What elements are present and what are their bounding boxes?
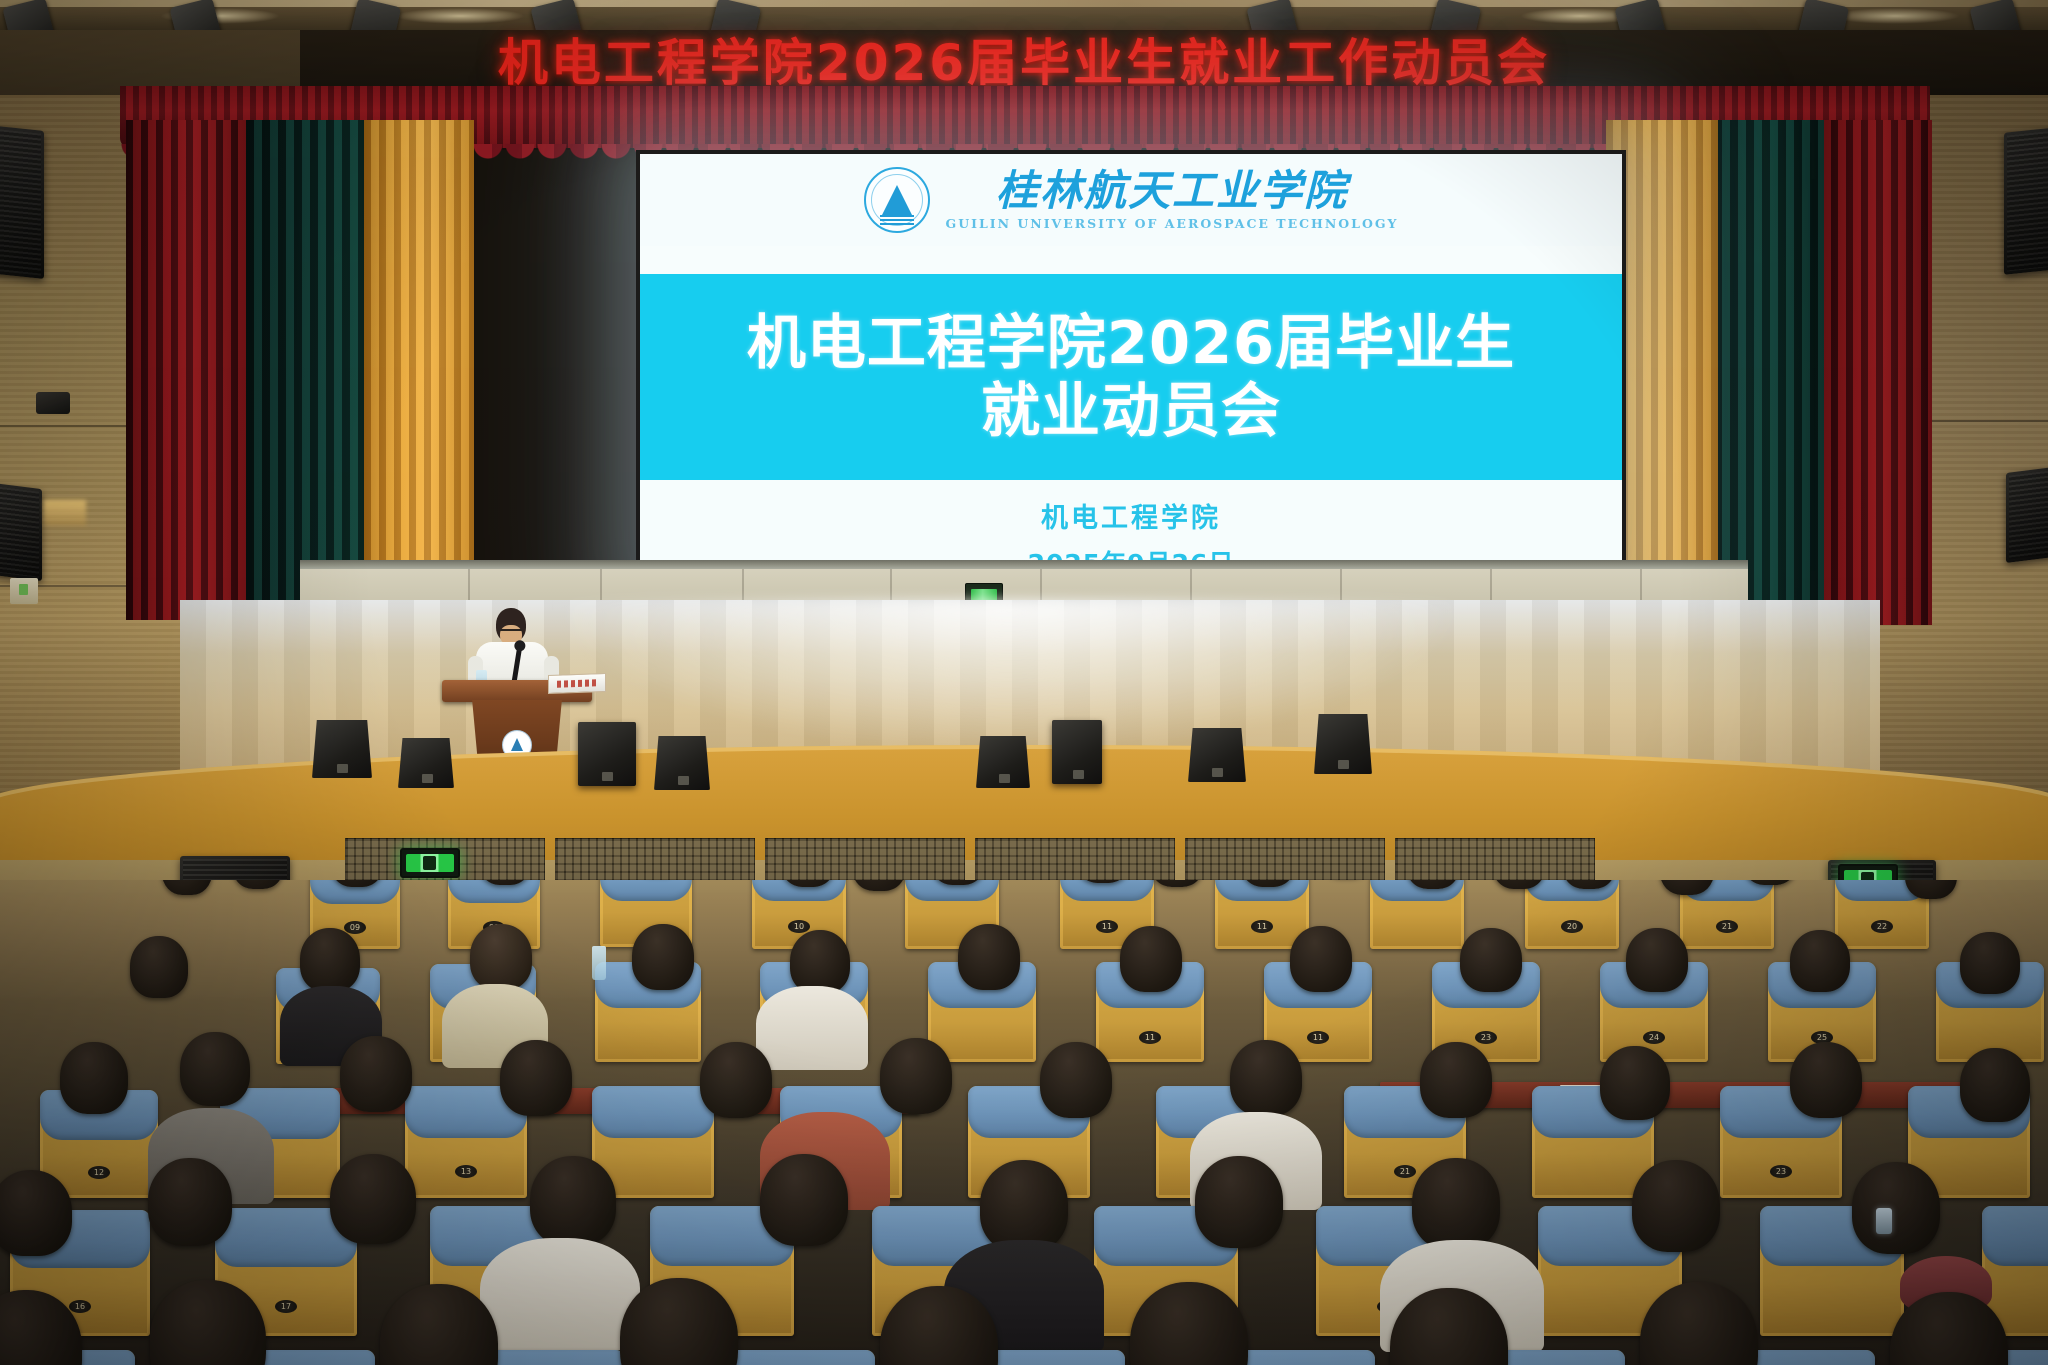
- stage-monitor-speaker: [976, 736, 1030, 788]
- curtain-red-left: [126, 120, 246, 620]
- audience-head: [1632, 1160, 1720, 1252]
- seat-number: 21: [1716, 920, 1738, 933]
- podium-nameplate: [548, 673, 606, 694]
- audience-head: [700, 1042, 772, 1118]
- seat-number: 11: [1251, 920, 1273, 933]
- audience-head: [0, 1170, 72, 1256]
- audience-head: [958, 924, 1020, 990]
- audience-shoulders: [480, 1238, 640, 1350]
- university-emblem-icon: [864, 167, 930, 233]
- audience-head: [790, 930, 850, 994]
- seat[interactable]: 20: [1525, 880, 1619, 949]
- slide-title-line-1: 机电工程学院2026届毕业生: [747, 310, 1515, 376]
- audience-head: [980, 1160, 1068, 1252]
- wall-sconce-light: [44, 500, 86, 526]
- audience-head: [760, 1154, 848, 1246]
- audience-head: [1040, 1042, 1112, 1118]
- auditorium-photo: 机电工程学院2026届毕业生就业工作动员会: [0, 0, 2048, 1365]
- water-bottle: [592, 946, 606, 980]
- audience-head: [60, 1042, 128, 1114]
- audience-head: [1960, 932, 2020, 994]
- audience-head: [340, 1036, 412, 1112]
- audience-head: [1790, 930, 1850, 992]
- audience-head: [1852, 1162, 1940, 1254]
- exit-sign-left: [400, 848, 460, 878]
- seat-number: 12: [88, 1166, 110, 1179]
- stage-monitor-speaker: [1052, 720, 1102, 784]
- stage-monitor-speaker: [312, 720, 372, 778]
- seat-number: 16: [69, 1300, 91, 1313]
- glasses-icon: [500, 629, 522, 634]
- seat-number: 09: [344, 921, 366, 934]
- audience-head: [1460, 928, 1522, 992]
- audience-head: [180, 1032, 250, 1106]
- slide-title-line-2: 就业动员会: [981, 378, 1281, 444]
- audience-head: [1230, 1040, 1302, 1116]
- stage-monitor-speaker: [1314, 714, 1372, 774]
- audience-head: [232, 880, 284, 889]
- audience-head: [500, 1040, 572, 1116]
- led-presentation-screen: 桂林航天工业学院 GUILIN UNIVERSITY OF AEROSPACE …: [636, 150, 1626, 600]
- audience-head: [530, 1156, 616, 1246]
- audience-head: [1600, 1046, 1670, 1120]
- audience-head: [1195, 1156, 1283, 1248]
- wall-speaker: [0, 483, 42, 581]
- seat-number: 11: [1096, 920, 1118, 933]
- seat-number: 11: [1139, 1031, 1161, 1044]
- seat-number: 17: [275, 1300, 297, 1313]
- audience-head: [1420, 1042, 1492, 1118]
- audience-seating-area: 09 09 10 11 11 20 21 22: [0, 880, 2048, 1365]
- curtain-red-right: [1816, 120, 1932, 625]
- slide-content: 桂林航天工业学院 GUILIN UNIVERSITY OF AEROSPACE …: [640, 154, 1622, 596]
- audience-head: [1150, 880, 1204, 887]
- stage-monitor-speaker: [398, 738, 454, 788]
- audience-shoulders: [756, 986, 868, 1070]
- wall-speaker: [2004, 127, 2048, 275]
- audience-head: [162, 880, 212, 895]
- speaker-grille-icon: [2007, 130, 2048, 271]
- exit-sign-icon: [406, 854, 454, 872]
- seat-number: 23: [1475, 1031, 1497, 1044]
- wall-outlet-icon: [10, 578, 38, 604]
- ceiling-light-strip: [0, 0, 2048, 7]
- audience-head: [880, 1038, 952, 1114]
- wall-speaker: [2006, 467, 2048, 563]
- audience-head: [1626, 928, 1688, 992]
- audience-head: [1120, 926, 1182, 992]
- audience-head: [300, 928, 360, 992]
- audience-head: [470, 924, 532, 990]
- audience-head: [1290, 926, 1352, 992]
- audience-head: [330, 1154, 416, 1244]
- ceiling-glow: [1830, 8, 1960, 24]
- seat-number: 11: [1307, 1031, 1329, 1044]
- speaker-grille-icon: [0, 128, 41, 275]
- audience-head: [1412, 1158, 1500, 1250]
- university-name-en: GUILIN UNIVERSITY OF AEROSPACE TECHNOLOG…: [946, 216, 1399, 231]
- speaker-grille-icon: [0, 486, 39, 577]
- university-name-block: 桂林航天工业学院 GUILIN UNIVERSITY OF AEROSPACE …: [946, 169, 1399, 231]
- wall-speaker: [0, 125, 44, 279]
- audience-head: [148, 1158, 232, 1246]
- slide-organizer: 机电工程学院: [1041, 496, 1221, 535]
- emblem-ring: [871, 174, 923, 226]
- event-banner-text: 机电工程学院2026届毕业生就业工作动员会: [0, 38, 2048, 88]
- seat-number: 13: [455, 1165, 477, 1178]
- slide-spacer: [640, 246, 1622, 274]
- ceiling-glow: [395, 8, 525, 24]
- security-camera-icon: [36, 392, 70, 414]
- slide-header: 桂林航天工业学院 GUILIN UNIVERSITY OF AEROSPACE …: [640, 154, 1622, 246]
- stage-monitor-speaker: [578, 722, 636, 786]
- seat[interactable]: [1370, 880, 1464, 949]
- stage-monitor-speaker: [1188, 728, 1246, 782]
- seat-number: 22: [1871, 920, 1893, 933]
- back-wall-shadow: [300, 560, 1748, 569]
- curtain-gold-left: [364, 120, 474, 600]
- slide-title-band: 机电工程学院2026届毕业生 就业动员会: [640, 274, 1622, 480]
- audience-head: [130, 936, 188, 998]
- seat-number: 20: [1561, 920, 1583, 933]
- speaker-grille-icon: [2009, 470, 2048, 559]
- audience-head: [1960, 1048, 2030, 1122]
- stage-monitor-speaker: [654, 736, 710, 790]
- smartphone-icon: [1876, 1208, 1892, 1234]
- seat-number: 23: [1770, 1165, 1792, 1178]
- seat-number: 21: [1394, 1165, 1416, 1178]
- university-name-cn: 桂林航天工业学院: [996, 169, 1348, 213]
- audience-head: [1790, 1042, 1862, 1118]
- audience-head: [632, 924, 694, 990]
- seat-number: 10: [788, 920, 810, 933]
- audience-head: [852, 880, 906, 891]
- seat-number: 24: [1643, 1031, 1665, 1044]
